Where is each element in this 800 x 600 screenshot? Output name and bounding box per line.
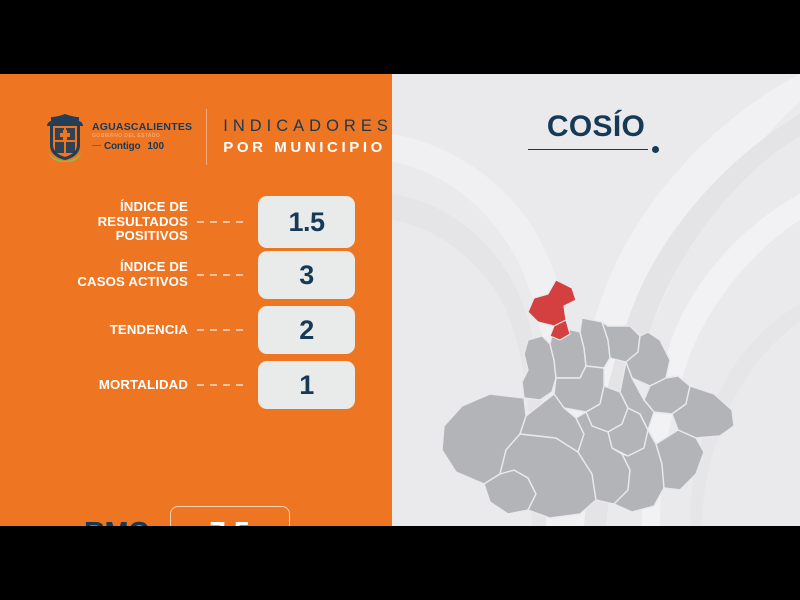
- indicator-label: MORTALIDAD: [0, 378, 188, 393]
- indicator-value: 2: [258, 306, 355, 354]
- left-orange-panel: AGUASCALIENTES GOBIERNO DEL ESTADO Conti…: [0, 74, 392, 526]
- contigo-number: 100: [147, 142, 164, 152]
- rmc-block: RMC: 7.5: [84, 506, 290, 526]
- rmc-value: 7.5: [170, 506, 290, 526]
- highlighted-municipality: [528, 280, 576, 340]
- panel-title-secondary: POR MUNICIPIO: [223, 139, 393, 158]
- indicator-row: ÍNDICE DE RESULTADOS POSITIVOS 1.5: [0, 196, 392, 248]
- panel-header: AGUASCALIENTES GOBIERNO DEL ESTADO Conti…: [42, 108, 393, 166]
- dashed-connector: [197, 384, 249, 386]
- indicator-row: TENDENCIA 2: [0, 306, 392, 354]
- dashed-connector: [197, 221, 249, 223]
- contigo-bars-icon: [92, 144, 101, 150]
- right-map-panel: COSÍO: [392, 74, 800, 526]
- header-divider: [206, 109, 207, 165]
- indicator-label: ÍNDICE DE CASOS ACTIVOS: [0, 260, 188, 290]
- indicator-row: MORTALIDAD 1: [0, 361, 392, 409]
- indicator-value: 3: [258, 251, 355, 299]
- screenshot-stage: AGUASCALIENTES GOBIERNO DEL ESTADO Conti…: [0, 0, 800, 600]
- indicator-label: TENDENCIA: [0, 323, 188, 338]
- contigo-lockup: Contigo 100: [92, 142, 192, 152]
- title-underline: [528, 146, 664, 156]
- underline-bar: [528, 149, 648, 150]
- municipality-name: COSÍO: [547, 110, 645, 144]
- panel-title-primary: INDICADORES: [223, 116, 393, 137]
- contigo-word: Contigo: [104, 142, 140, 152]
- infographic-card: AGUASCALIENTES GOBIERNO DEL ESTADO Conti…: [0, 74, 800, 526]
- indicator-row: ÍNDICE DE CASOS ACTIVOS 3: [0, 251, 392, 299]
- indicator-list: ÍNDICE DE RESULTADOS POSITIVOS 1.5 ÍNDIC…: [0, 196, 392, 412]
- dashed-connector: [197, 274, 249, 276]
- indicator-value: 1.5: [258, 196, 355, 248]
- underline-dot: [652, 146, 659, 153]
- rmc-label: RMC:: [84, 517, 158, 527]
- indicator-label: ÍNDICE DE RESULTADOS POSITIVOS: [0, 200, 188, 244]
- state-name: AGUASCALIENTES: [92, 122, 192, 133]
- municipality-title-block: COSÍO: [392, 110, 800, 156]
- government-subtitle: GOBIERNO DEL ESTADO: [92, 134, 192, 139]
- dashed-connector: [197, 329, 249, 331]
- aguascalientes-state-crest-icon: [42, 112, 88, 162]
- aguascalientes-municipalities-map[interactable]: [404, 274, 790, 524]
- indicator-value: 1: [258, 361, 355, 409]
- panel-title-block: INDICADORES POR MUNICIPIO: [223, 116, 393, 158]
- government-wordmark: AGUASCALIENTES GOBIERNO DEL ESTADO Conti…: [92, 122, 192, 152]
